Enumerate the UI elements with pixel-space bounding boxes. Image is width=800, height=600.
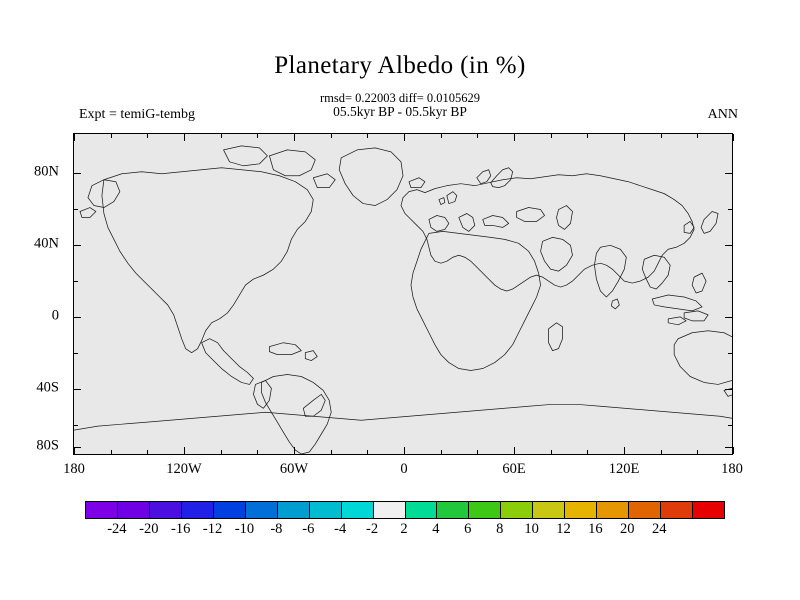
x-tick-120E [624,447,625,454]
y-tick-40N [74,245,81,246]
x-tick-minor-100E [587,450,588,454]
colorbar-swatch-11 [437,502,469,518]
colorbar-tick-label-2: 2 [400,521,407,538]
x-tick-minor-100E-top [587,134,588,138]
x-tick-minor-160E-top [697,134,698,138]
y-tick-minor-20N [74,281,78,282]
y-axis-label-80N: 80N [0,164,59,181]
x-tick-minor-20W-top [367,134,368,138]
x-tick-minor-80E [551,450,552,454]
x-tick-minor-140W-top [147,134,148,138]
x-axis-label-60E: 60E [502,461,525,478]
y-tick-40S-right [725,389,732,390]
season-label: ANN [708,107,738,123]
colorbar-tick-label-16: 16 [588,521,603,538]
x-tick-minor-100W-top [221,134,222,138]
colorbar-swatch-15 [565,502,597,518]
x-tick-minor-80E-top [551,134,552,138]
y-tick-minor-60N [74,209,78,210]
colorbar-tick-label--12: -12 [203,521,222,538]
x-tick-180W [74,447,75,454]
x-tick-minor-80W [257,450,258,454]
colorbar-tick-label--20: -20 [139,521,158,538]
colorbar-swatch-19 [693,502,724,518]
x-axis-label-180E: 180 [721,461,743,478]
x-tick-60W [294,447,295,454]
x-tick-0 [404,447,405,454]
colorbar-tick-label-6: 6 [464,521,471,538]
x-tick-minor-100W [221,450,222,454]
x-axis-label-120W: 120W [166,461,201,478]
coastline-map [74,134,732,454]
y-tick-minor-20S-right [728,353,732,354]
y-tick-minor-20N-right [728,281,732,282]
x-tick-120E-top [624,134,625,141]
x-tick-60W-top [294,134,295,141]
x-tick-minor-160W [111,450,112,454]
x-tick-minor-160E [697,450,698,454]
x-tick-minor-160W-top [111,134,112,138]
x-tick-60E [514,447,515,454]
y-tick-0-right [725,317,732,318]
y-tick-minor-20S [74,353,78,354]
colorbar-swatch-8 [342,502,374,518]
colorbar-tick-label-4: 4 [432,521,439,538]
x-tick-minor-40E [477,450,478,454]
colorbar-swatch-6 [278,502,310,518]
x-tick-0-top [404,134,405,141]
y-tick-80S-right [725,447,732,448]
colorbar-swatch-12 [469,502,501,518]
y-tick-80N-right [725,173,732,174]
y-axis-label-0: 0 [0,308,59,325]
page-title: Planetary Albedo (in %) [0,52,800,80]
x-axis-label-60W: 60W [280,461,308,478]
colorbar-tick-label-8: 8 [496,521,503,538]
x-tick-minor-20E-top [441,134,442,138]
colorbar-tick-label--8: -8 [270,521,282,538]
colorbar-swatch-17 [629,502,661,518]
x-tick-120W [184,447,185,454]
colorbar-tick-label-10: 10 [524,521,539,538]
x-tick-minor-140E [661,450,662,454]
figure-canvas: Planetary Albedo (in %) rmsd= 0.22003 di… [0,0,800,600]
colorbar-swatch-0 [86,502,118,518]
y-tick-0 [74,317,81,318]
x-tick-180E-top [733,134,734,141]
colorbar-swatch-7 [310,502,342,518]
x-tick-minor-80W-top [257,134,258,138]
x-tick-180W-top [74,134,75,141]
colorbar-tick-label--6: -6 [302,521,314,538]
x-tick-60E-top [514,134,515,141]
colorbar-swatch-4 [214,502,246,518]
colorbar-swatch-3 [182,502,214,518]
colorbar-tick-label-20: 20 [620,521,635,538]
colorbar-tick-label--2: -2 [366,521,378,538]
colorbar-swatch-2 [150,502,182,518]
x-tick-minor-40W-top [331,134,332,138]
y-axis-label-40S: 40S [0,380,59,397]
colorbar-swatch-14 [533,502,565,518]
colorbar-swatch-5 [246,502,278,518]
colorbar-tick-label--10: -10 [235,521,254,538]
x-axis-label-0: 0 [400,461,407,478]
colorbar-swatch-18 [661,502,693,518]
x-tick-minor-40W [331,450,332,454]
y-tick-minor-60N-right [728,209,732,210]
x-tick-180E [733,447,734,454]
colorbar[interactable] [85,501,725,519]
y-tick-minor-60S [74,425,78,426]
x-tick-minor-140W [147,450,148,454]
y-tick-40S [74,389,81,390]
x-tick-minor-20E [441,450,442,454]
x-tick-minor-140E-top [661,134,662,138]
colorbar-tick-label-24: 24 [652,521,667,538]
x-tick-minor-20W [367,450,368,454]
x-axis-label-120E: 120E [609,461,640,478]
colorbar-tick-label-12: 12 [556,521,571,538]
y-tick-80S [74,447,81,448]
colorbar-tick-label--4: -4 [334,521,346,538]
colorbar-swatch-9 [374,502,406,518]
colorbar-tick-label--24: -24 [107,521,126,538]
x-axis-label-180W: 180 [63,461,85,478]
colorbar-swatch-1 [118,502,150,518]
experiment-label: Expt = temiG-tembg [79,107,195,123]
colorbar-swatch-10 [406,502,438,518]
x-tick-minor-40E-top [477,134,478,138]
colorbar-swatch-16 [597,502,629,518]
map-plot-area [73,133,733,455]
y-tick-80N [74,173,81,174]
y-axis-label-80S: 80S [0,438,59,455]
y-tick-minor-60S-right [728,425,732,426]
y-tick-40N-right [725,245,732,246]
x-tick-120W-top [184,134,185,141]
y-axis-label-40N: 40N [0,236,59,253]
colorbar-tick-label--16: -16 [171,521,190,538]
colorbar-swatch-13 [501,502,533,518]
